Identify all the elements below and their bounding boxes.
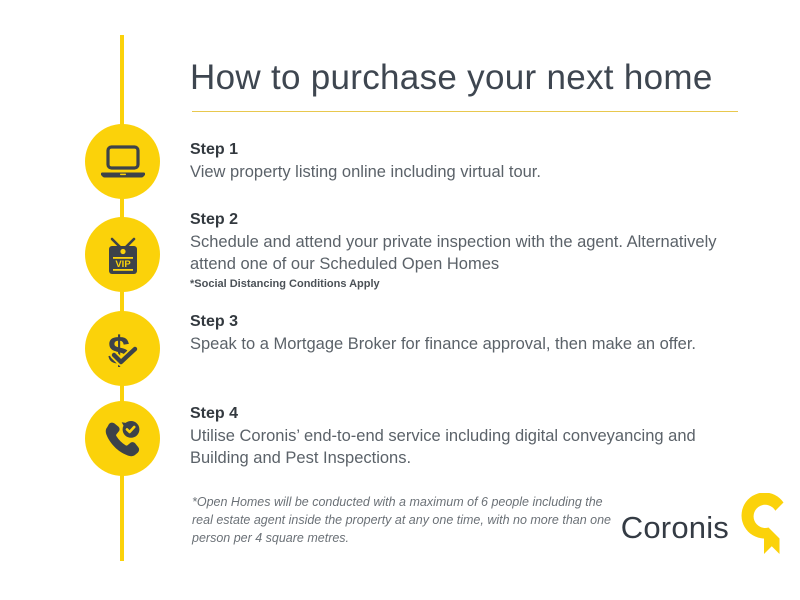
title-divider <box>192 111 738 112</box>
step-2-note: *Social Distancing Conditions Apply <box>190 277 730 292</box>
step-2-heading: Step 2 <box>190 210 730 231</box>
dollar-check-icon: $ <box>100 327 146 371</box>
step-4-icon-badge <box>85 401 160 476</box>
step-2-body: Schedule and attend your private inspect… <box>190 232 730 276</box>
step-2-icon-badge: VIP <box>85 217 160 292</box>
step-3-heading: Step 3 <box>190 312 730 333</box>
step-4-body: Utilise Coronis’ end-to-end service incl… <box>190 426 730 470</box>
step-1: Step 1 View property listing online incl… <box>190 140 730 184</box>
coronis-c-pin-icon <box>738 493 790 560</box>
timeline-spine <box>120 35 124 561</box>
phone-check-icon <box>100 418 146 460</box>
logo-wordmark: Coronis <box>621 510 729 546</box>
step-3: Step 3 Speak to a Mortgage Broker for fi… <box>190 312 730 356</box>
coronis-logo: Coronis <box>620 490 790 560</box>
step-1-body: View property listing online including v… <box>190 162 730 184</box>
laptop-icon <box>101 145 145 179</box>
vip-tag-icon: VIP <box>102 233 144 277</box>
page-title: How to purchase your next home <box>190 58 713 98</box>
svg-text:VIP: VIP <box>115 259 131 270</box>
step-1-icon-badge <box>85 124 160 199</box>
step-4: Step 4 Utilise Coronis’ end-to-end servi… <box>190 404 730 470</box>
step-4-heading: Step 4 <box>190 404 730 425</box>
step-1-heading: Step 1 <box>190 140 730 161</box>
infographic-poster: How to purchase your next home VIP <box>0 0 800 600</box>
step-3-icon-badge: $ <box>85 311 160 386</box>
footnote: *Open Homes will be conducted with a max… <box>192 493 612 547</box>
step-3-body: Speak to a Mortgage Broker for finance a… <box>190 334 730 356</box>
step-2: Step 2 Schedule and attend your private … <box>190 210 730 292</box>
